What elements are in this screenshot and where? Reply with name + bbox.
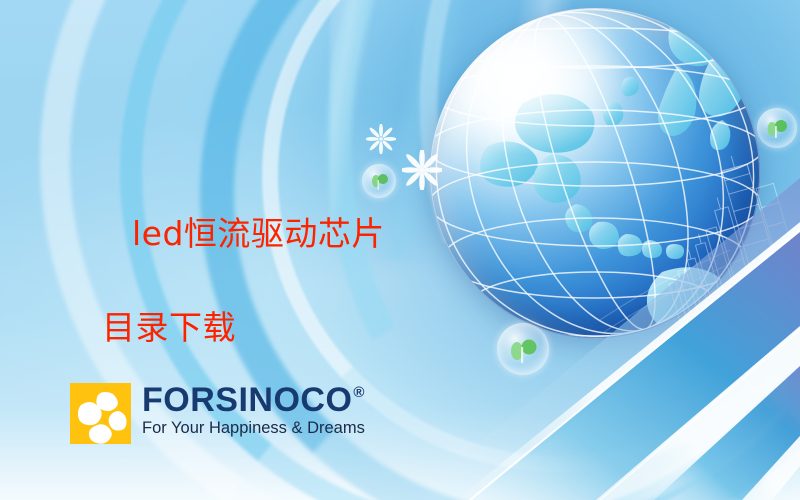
pinwheel-petals — [70, 383, 131, 444]
page-title-line2: 目录下载 — [88, 304, 508, 351]
logo-wordmark-text: FORSINOCO — [142, 382, 352, 418]
slide-canvas: led恒流驱动芯片 目录下载 FORSINOCO ® For Your Happ… — [0, 0, 800, 500]
four-petal-pinwheel-icon — [70, 383, 131, 444]
registered-trademark-icon: ® — [353, 385, 365, 400]
logo-text-block: FORSINOCO ® For Your Happiness & Dreams — [142, 382, 365, 438]
company-logo: FORSINOCO ® For Your Happiness & Dreams — [70, 383, 365, 444]
logo-tagline: For Your Happiness & Dreams — [142, 419, 365, 438]
page-title-line1: led恒流驱动芯片 — [132, 214, 385, 253]
logo-wordmark: FORSINOCO ® — [142, 382, 365, 418]
